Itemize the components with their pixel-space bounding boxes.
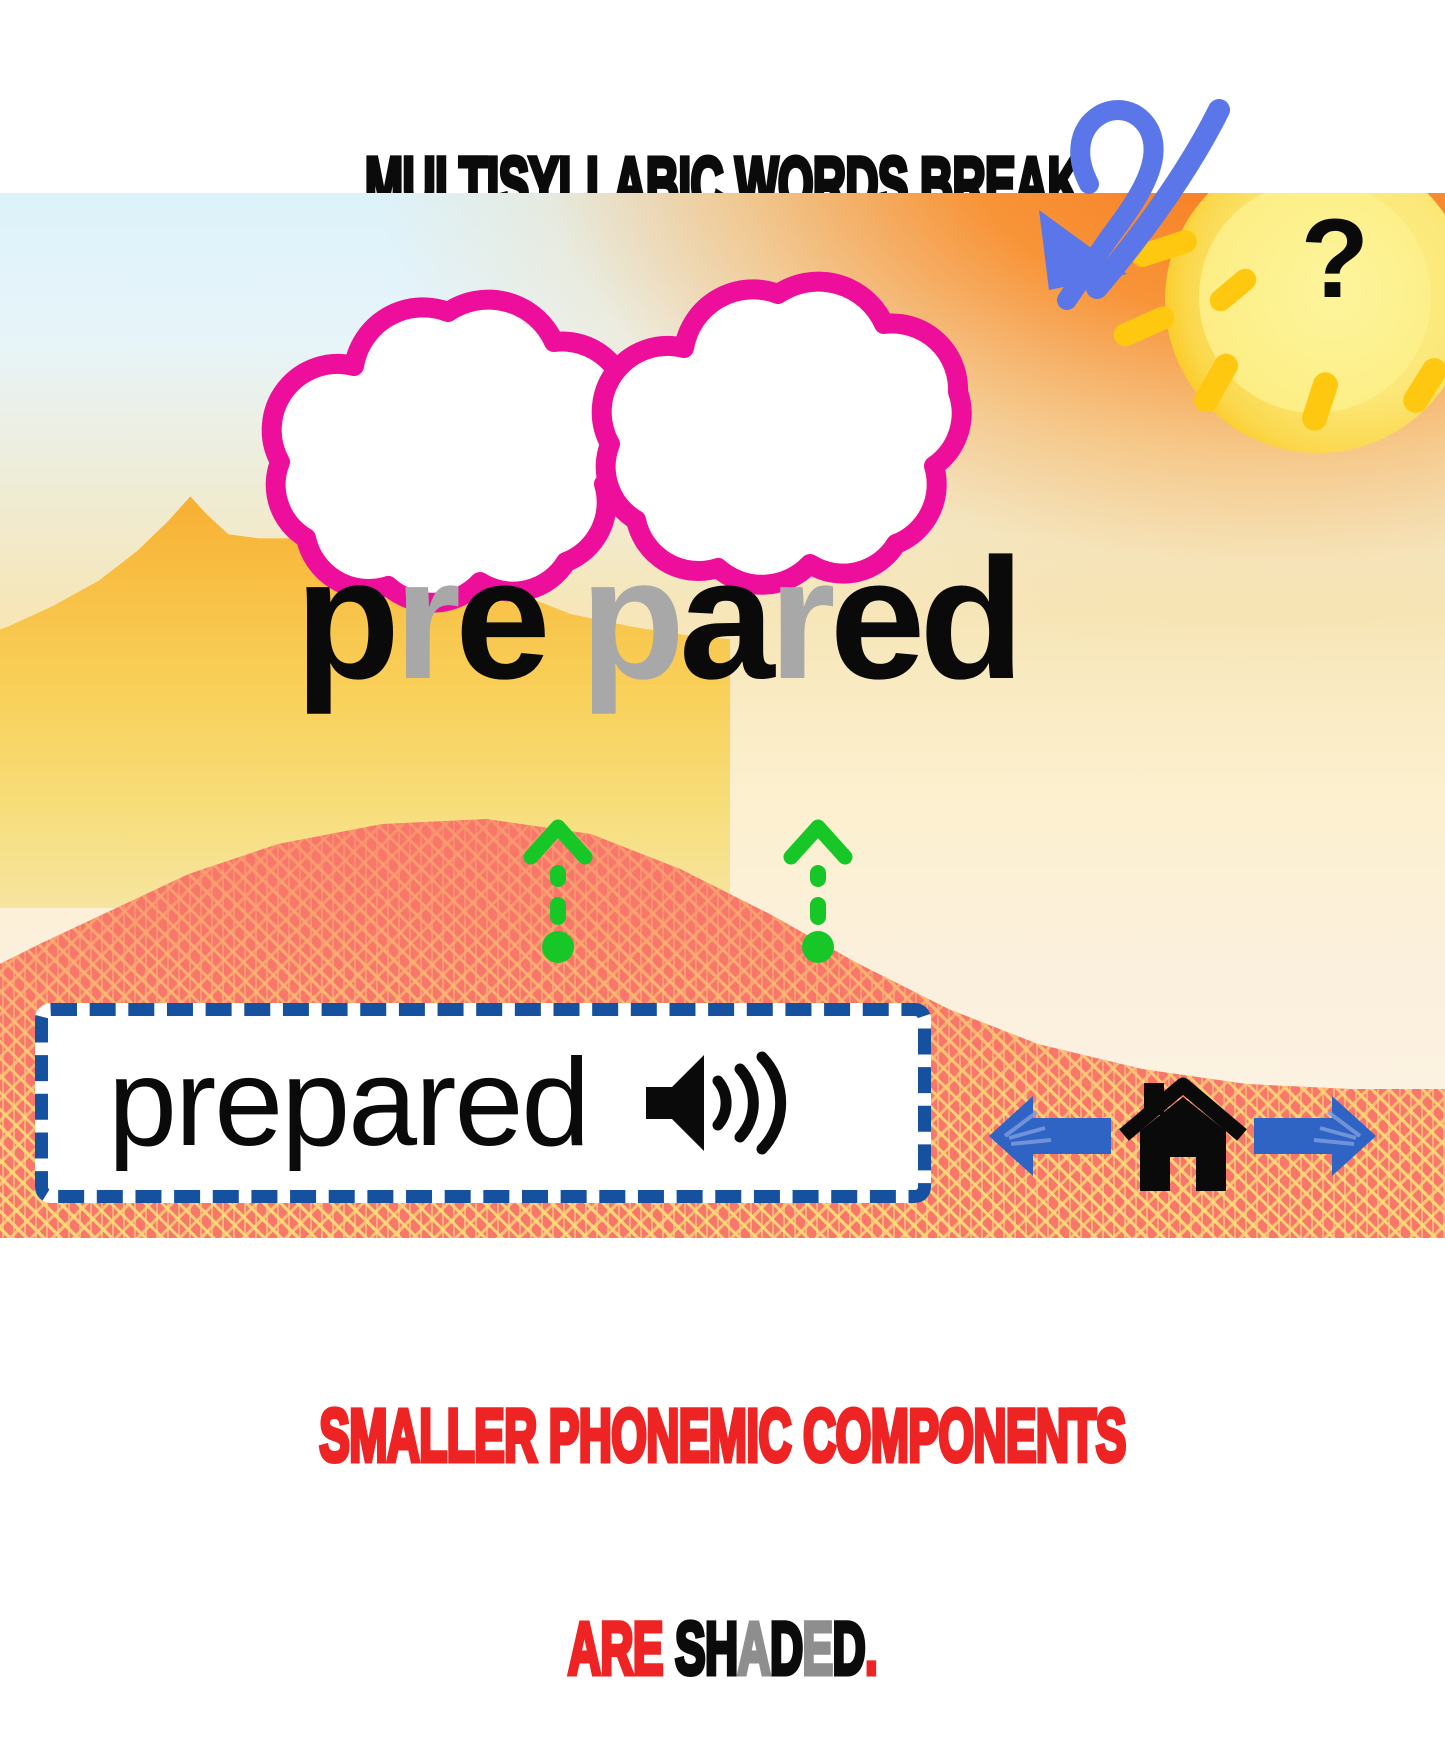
back-arrow-icon[interactable] <box>985 1088 1115 1184</box>
home-icon[interactable] <box>1118 1077 1248 1195</box>
activity-scene: ? pre pared <box>0 193 1445 1238</box>
letter-p-dark: p <box>295 523 394 715</box>
shaded-part-4: E <box>803 1607 833 1690</box>
bottom-caption-line-1: SMALLER PHONEMIC COMPONENTS <box>275 1400 1171 1471</box>
speaker-icon[interactable] <box>642 1047 792 1159</box>
letter-r-light: r <box>769 523 830 715</box>
forward-arrow-icon[interactable] <box>1250 1088 1380 1184</box>
shaded-part-2: A <box>737 1607 770 1690</box>
bottom-caption: SMALLER PHONEMIC COMPONENTS ARE SHADED. <box>275 1258 1171 1755</box>
bottom-caption-are: ARE <box>568 1607 675 1690</box>
word-card[interactable]: prepared <box>35 1003 931 1203</box>
navigation-controls <box>985 1073 1380 1198</box>
curly-arrow-icon <box>1005 92 1255 337</box>
letter-a-dark: a <box>679 523 769 715</box>
shaded-part-3: D <box>770 1607 803 1690</box>
syllable-text-1: pre <box>295 533 545 705</box>
shaded-part-5: D <box>833 1607 866 1690</box>
letter-d-dark: d <box>919 523 1018 715</box>
syllable-pointer-arrow-1 <box>523 813 593 963</box>
shaded-part-1: SH <box>675 1607 738 1690</box>
syllable-pointer-arrow-2 <box>783 813 853 963</box>
word-card-text: prepared <box>108 1041 588 1165</box>
letter-r-light: r <box>394 523 455 715</box>
letter-e-dark: e <box>830 523 920 715</box>
bottom-caption-period: . <box>865 1607 877 1690</box>
letter-p-light: p <box>580 523 679 715</box>
bottom-caption-line-2: ARE SHADED. <box>275 1613 1171 1684</box>
syllable-text-2: pared <box>580 533 1018 705</box>
letter-e-dark: e <box>455 523 545 715</box>
help-question-mark[interactable]: ? <box>1301 203 1369 315</box>
